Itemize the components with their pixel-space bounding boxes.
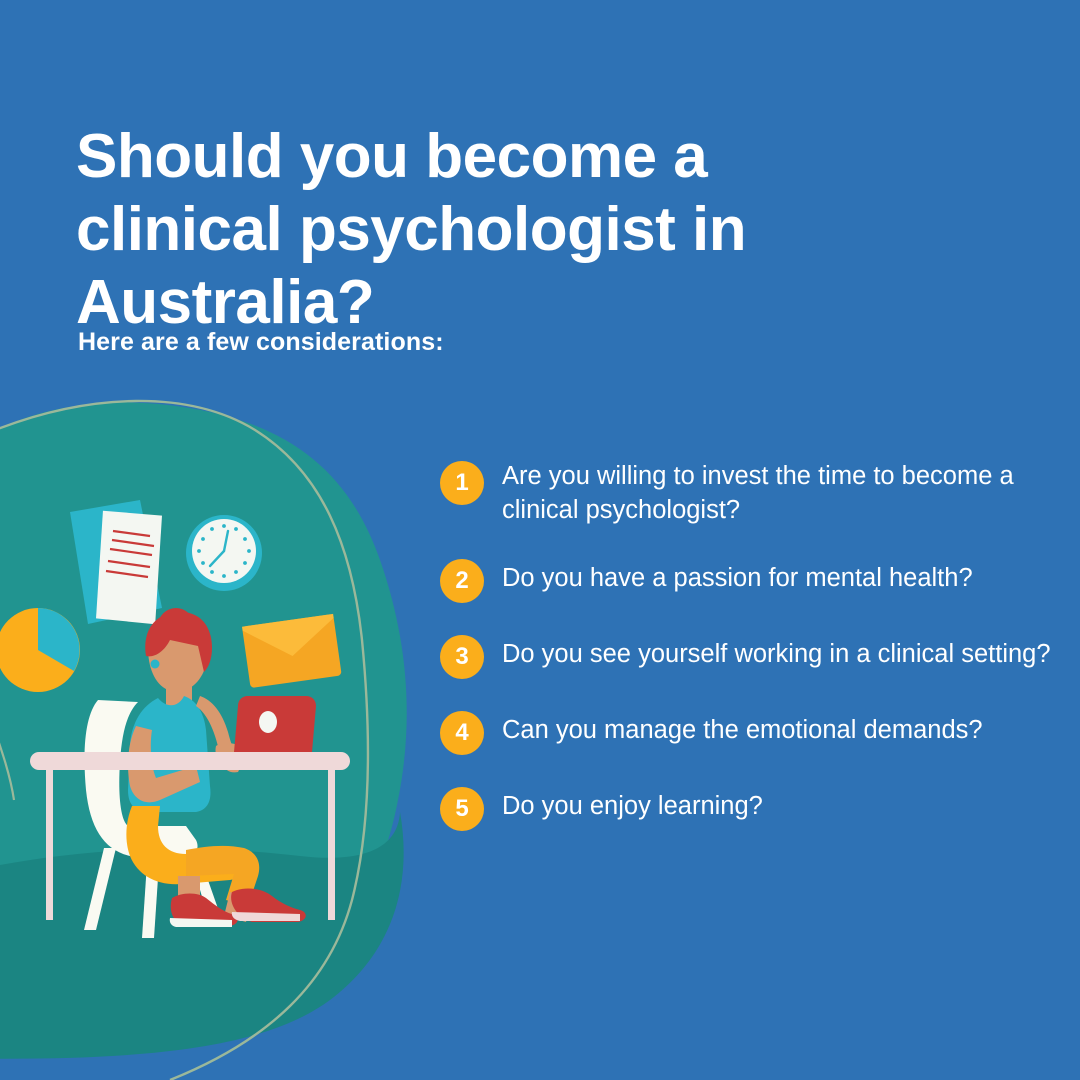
list-item-number-badge: 2 [440, 559, 484, 603]
list-item-text: Do you have a passion for mental health? [502, 557, 973, 596]
list-item-text: Are you willing to invest the time to be… [502, 459, 1060, 527]
list-item-text: Can you manage the emotional demands? [502, 709, 983, 748]
list-item: 1 Are you willing to invest the time to … [440, 459, 1060, 527]
page-title: Should you become a clinical psychologis… [76, 120, 906, 339]
list-item-number-badge: 3 [440, 635, 484, 679]
page-subtitle: Here are a few considerations: [78, 328, 444, 357]
list-item: 4 Can you manage the emotional demands? [440, 709, 1060, 755]
infographic-poster: Should you become a clinical psychologis… [0, 0, 1080, 1080]
content-layer: Should you become a clinical psychologis… [0, 0, 1080, 1080]
list-item-text: Do you enjoy learning? [502, 785, 763, 824]
list-item-number-badge: 1 [440, 461, 484, 505]
list-item: 2 Do you have a passion for mental healt… [440, 557, 1060, 603]
list-item: 5 Do you enjoy learning? [440, 785, 1060, 831]
considerations-list: 1 Are you willing to invest the time to … [440, 459, 1060, 831]
list-item: 3 Do you see yourself working in a clini… [440, 633, 1060, 679]
list-item-number-badge: 5 [440, 787, 484, 831]
list-item-text: Do you see yourself working in a clinica… [502, 633, 1051, 672]
list-item-number-badge: 4 [440, 711, 484, 755]
